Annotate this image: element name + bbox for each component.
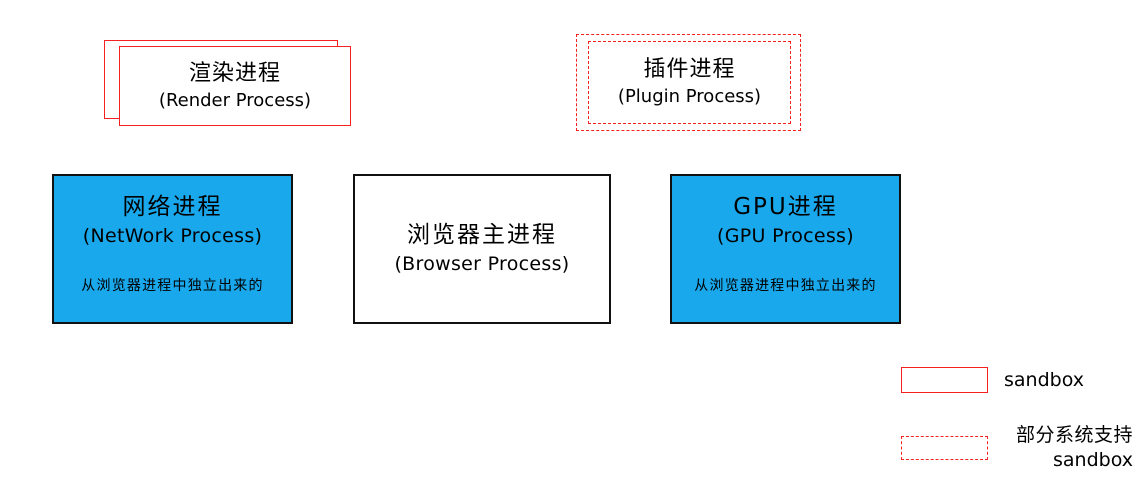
diagram-canvas: 渲染进程 (Render Process) 插件进程 (Plugin Proce… (0, 0, 1142, 494)
network-process-title-en: (NetWork Process) (83, 222, 263, 250)
network-process-note: 从浏览器进程中独立出来的 (81, 276, 263, 296)
gpu-process-box[interactable]: GPU进程 (GPU Process) 从浏览器进程中独立出来的 (670, 174, 901, 324)
render-process-box[interactable]: 渲染进程 (Render Process) (119, 46, 351, 126)
legend-swatch-solid-rectangle-icon (901, 367, 988, 393)
legend: sandbox 部分系统支持 sandbox (898, 360, 1142, 470)
browser-process-title-cn: 浏览器主进程 (407, 220, 557, 250)
network-process-box[interactable]: 网络进程 (NetWork Process) 从浏览器进程中独立出来的 (52, 174, 293, 324)
browser-process-box[interactable]: 浏览器主进程 (Browser Process) (353, 174, 611, 324)
render-process-title-en: (Render Process) (159, 88, 311, 114)
browser-process-title-en: (Browser Process) (394, 250, 569, 278)
legend-item-partial-sandbox: 部分系统支持 sandbox (901, 423, 1133, 473)
legend-label-sandbox: sandbox (1004, 368, 1084, 392)
legend-label-partial-line1: 部分系统支持 (998, 423, 1133, 448)
network-process-title-cn: 网络进程 (123, 192, 223, 222)
gpu-process-title-en: (GPU Process) (717, 222, 854, 250)
render-process-title-cn: 渲染进程 (189, 59, 281, 88)
legend-label-partial-line2: sandbox (998, 448, 1133, 473)
legend-item-sandbox: sandbox (901, 367, 1084, 393)
plugin-process-box[interactable]: 插件进程 (Plugin Process) (588, 41, 791, 124)
legend-label-partial-sandbox: 部分系统支持 sandbox (998, 423, 1133, 473)
legend-swatch-dashed-rectangle-icon (901, 436, 988, 460)
gpu-process-note: 从浏览器进程中独立出来的 (694, 276, 876, 296)
plugin-process-title-cn: 插件进程 (643, 55, 735, 84)
plugin-process-group[interactable]: 插件进程 (Plugin Process) (576, 34, 801, 131)
plugin-process-title-en: (Plugin Process) (618, 84, 761, 110)
render-process-group[interactable]: 渲染进程 (Render Process) (104, 40, 351, 126)
gpu-process-title-cn: GPU进程 (733, 192, 838, 222)
